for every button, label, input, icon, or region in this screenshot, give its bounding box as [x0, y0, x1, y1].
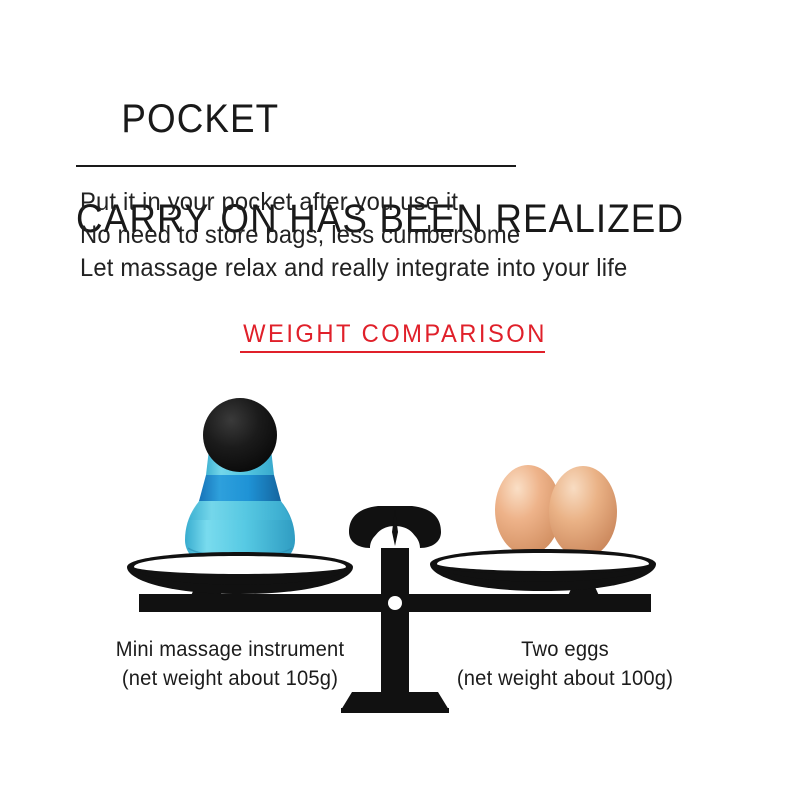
product-marketing-page: POCKET CARRY ON HAS BEEN REALIZED Put it… — [0, 0, 790, 795]
body-copy-line-2: No need to store bags, less cumbersome — [80, 219, 736, 252]
section-heading: WEIGHT COMPARISON — [20, 320, 771, 349]
title-divider — [76, 165, 516, 167]
headline-line-1: POCKET — [121, 97, 279, 141]
body-copy-line-1: Put it in your pocket after you use it, — [80, 186, 736, 219]
caption-left-weight: (net weight about 105g) — [76, 664, 383, 693]
caption-right-weight: (net weight about 100g) — [411, 664, 718, 693]
section-heading-underline — [240, 351, 545, 353]
caption-left-item: Mini massage instrument — [76, 635, 383, 664]
mini-massage-instrument-graphic — [182, 398, 298, 579]
body-copy: Put it in your pocket after you use it, … — [80, 186, 736, 285]
device-head-icon — [203, 398, 277, 472]
caption-right: Two eggs (net weight about 100g) — [411, 635, 718, 693]
caption-left: Mini massage instrument (net weight abou… — [76, 635, 383, 693]
body-copy-line-3: Let massage relax and really integrate i… — [80, 252, 736, 285]
pivot-dot — [388, 596, 402, 610]
caption-right-item: Two eggs — [411, 635, 718, 664]
